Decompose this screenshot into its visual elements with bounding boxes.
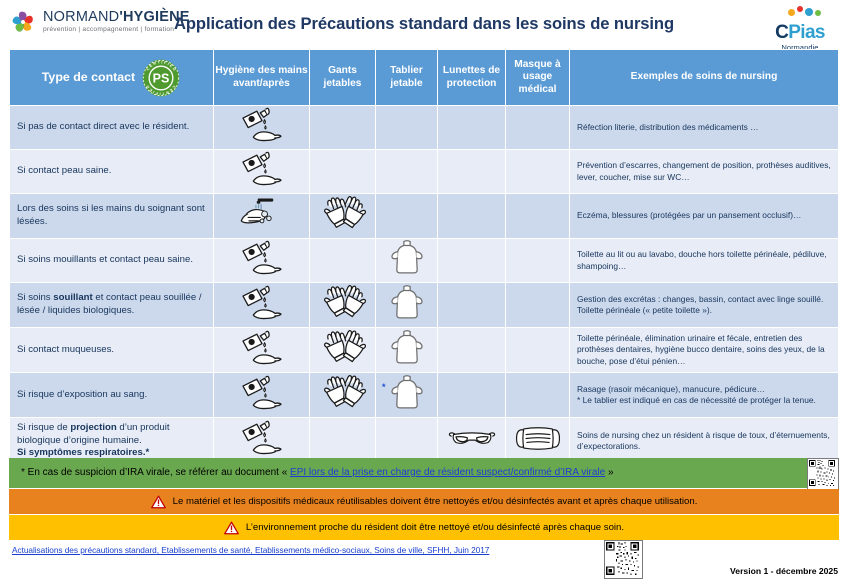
table-body: Si pas de contact direct avec le résiden… [10,106,839,465]
table-row: Si contact peau saine. Prévention d’esca… [10,150,839,194]
cell-gloves [310,283,376,328]
cell-apron [376,106,438,150]
row-examples: Réfection literie, distribution des médi… [570,106,839,150]
apron-icon [389,374,425,417]
row-contact-type-line: Si soins souillant et contact peau souil… [17,292,202,316]
ira-note-text: * En cas de suspicion d’IRA virale, se r… [9,467,839,479]
row-contact-type-line: Si contact peau saine. [17,165,111,176]
cell-apron [376,194,438,239]
ira-note-prefix: * En cas de suspicion d’IRA virale, se r… [21,467,287,478]
cell-goggles [438,328,506,373]
row-contact-type: Si soins souillant et contact peau souil… [10,283,214,328]
hand-sanitizer-icon [236,284,288,327]
table-row: Lors des soins si les mains du soignant … [10,194,839,239]
cell-goggles [438,239,506,283]
cell-goggles [438,373,506,418]
row-contact-type: Si contact muqueuses. [10,328,214,373]
equipment-note-bar: Le matériel et les dispositifs médicaux … [9,489,839,514]
hand-sanitizer-icon [236,150,288,193]
cell-gloves [310,150,376,194]
brand-tagline: prévention | accompagnement | formation [43,27,190,34]
apron-icon [389,239,425,282]
row-examples-line: Toilette au lit ou au lavabo, douche hor… [577,249,827,270]
equipment-note-text: Le matériel et les dispositifs médicaux … [173,496,698,507]
cell-mask [506,373,570,418]
row-examples-line: Réfection literie, distribution des médi… [577,122,759,132]
row-examples-line: Toilette périnéale (« petite toilette »)… [577,305,712,315]
col-header-mask: Masque à usage médical [506,50,570,106]
cell-mask [506,283,570,328]
row-examples-line: Eczéma, blessures (protégées par un pans… [577,210,801,220]
row-contact-type-line: Lors des soins si les mains du soignant … [17,203,205,227]
brand-name-part1: NORMAND [43,9,119,25]
gloves-icon [318,283,368,327]
row-examples: Eczéma, blessures (protégées par un pans… [570,194,839,239]
cell-apron [376,150,438,194]
table-header-row: Type de contact PS CERTIFIED [10,50,839,106]
row-examples-line: Toilette périnéale, élimination urinaire… [577,333,825,366]
col-header-type: Type de contact PS CERTIFIED [10,50,214,106]
warning-triangle-icon-2 [224,521,239,535]
table-row: Si risque d’exposition au sang. [10,373,839,418]
gloves-icon [318,194,368,238]
cell-gloves [310,194,376,239]
apron-icon [389,329,425,372]
environment-note-bar: L’environnement proche du résident doit … [9,515,839,540]
col-header-apron: Tablier jetable [376,50,438,106]
col-header-type-label: Type de contact [42,70,135,85]
hand-sanitizer-icon [236,329,288,372]
row-contact-type-line: Si pas de contact direct avec le résiden… [17,121,189,132]
cell-gloves [310,106,376,150]
cell-goggles [438,150,506,194]
row-contact-type: Si risque d’exposition au sang. [10,373,214,418]
svg-text:PS: PS [153,71,170,85]
apron-asterisk: * [382,382,386,392]
cpias-logo: CPias Normandie [760,6,840,44]
ira-note-bar: * En cas de suspicion d’IRA virale, se r… [9,458,839,488]
cell-hands [214,373,310,418]
cell-apron [376,283,438,328]
cell-mask [506,106,570,150]
cell-goggles [438,106,506,150]
environment-note-text: L’environnement proche du résident doit … [246,522,624,533]
cell-apron [376,328,438,373]
ps-certified-badge-icon: PS CERTIFIED CERTIFIED [141,58,181,98]
cell-gloves [310,328,376,373]
table-row: Si soins mouillants et contact peau sain… [10,239,839,283]
apron-icon [389,284,425,327]
hand-sanitizer-icon [236,239,288,282]
warning-triangle-icon [151,495,166,509]
table-row: Si contact muqueuses. [10,328,839,373]
col-header-examples: Exemples de soins de nursing [570,50,839,106]
hand-sanitizer-icon [236,374,288,417]
row-contact-type: Si contact peau saine. [10,150,214,194]
cell-gloves [310,239,376,283]
gloves-icon [318,328,368,372]
row-examples: Rasage (rasoir mécanique), manucure, péd… [570,373,839,418]
cell-mask [506,239,570,283]
gloves-icon [318,373,368,417]
col-header-hand-hygiene: Hygiène des mains avant/après [214,50,310,106]
row-examples-line: * Le tablier est indiqué en cas de néces… [577,395,816,405]
row-contact-type-line: Si symptômes respiratoires.* [17,447,149,458]
row-examples-line: Gestion des excrétas : changes, bassin, … [577,294,823,304]
cell-hands [214,106,310,150]
cell-goggles [438,194,506,239]
goggles-icon [448,427,496,455]
row-examples-line: Soins de nursing chez un résident à risq… [577,430,830,451]
cell-apron: * [376,373,438,418]
pinwheel-logo-icon [10,9,36,35]
row-contact-type: Si soins mouillants et contact peau sain… [10,239,214,283]
qr-code-source[interactable] [604,540,643,579]
cell-hands [214,194,310,239]
qr-code-ira[interactable] [807,458,839,490]
precautions-table: Type de contact PS CERTIFIED [9,49,839,465]
surgical-mask-icon [514,425,562,457]
source-reference-link[interactable]: Actualisations des précautions standard,… [12,545,489,555]
version-label: Version 1 - décembre 2025 [730,566,838,576]
row-examples: Toilette périnéale, élimination urinaire… [570,328,839,373]
row-contact-type-line: Si soins mouillants et contact peau sain… [17,254,193,265]
page-header: NORMAND'HYGIÈNE prévention | accompagnem… [0,0,848,48]
row-examples-line: Prévention d’escarres, changement de pos… [577,160,831,181]
cell-hands [214,328,310,373]
hand-sanitizer-icon [236,419,288,462]
cpias-c: C [775,22,788,43]
ira-note-suffix: » [608,467,614,478]
poster-page: NORMAND'HYGIÈNE prévention | accompagnem… [0,0,848,587]
col-header-goggles: Lunettes de protection [438,50,506,106]
cell-apron [376,239,438,283]
ira-document-link[interactable]: EPI lors de la prise en charge de réside… [290,467,605,478]
handwash-tap-icon [236,195,288,238]
row-contact-type: Lors des soins si les mains du soignant … [10,194,214,239]
hand-sanitizer-icon [236,106,288,149]
cell-hands [214,239,310,283]
cpias-wordmark: CPias [760,23,840,42]
row-examples: Prévention d’escarres, changement de pos… [570,150,839,194]
row-contact-type: Si pas de contact direct avec le résiden… [10,106,214,150]
row-contact-type-line: Si contact muqueuses. [17,344,114,355]
cpias-pias: Pias [788,22,825,43]
table-row: Si pas de contact direct avec le résiden… [10,106,839,150]
cell-mask [506,150,570,194]
row-examples: Toilette au lit ou au lavabo, douche hor… [570,239,839,283]
row-examples-line: Rasage (rasoir mécanique), manucure, péd… [577,384,765,394]
col-header-gloves: Gants jetables [310,50,376,106]
brand-name-part2: 'HYGIÈNE [119,9,189,25]
brand-name: NORMAND'HYGIÈNE [43,10,190,25]
row-examples: Gestion des excrétas : changes, bassin, … [570,283,839,328]
cell-hands [214,283,310,328]
row-contact-type-line: Si risque de projection d’un produit bio… [17,422,170,446]
table-row: Si soins souillant et contact peau souil… [10,283,839,328]
cell-mask [506,194,570,239]
row-contact-type-line: Si risque d’exposition au sang. [17,389,147,400]
cell-gloves [310,373,376,418]
cell-hands [214,150,310,194]
cell-mask [506,328,570,373]
cell-goggles [438,283,506,328]
normand-hygiene-logo: NORMAND'HYGIÈNE prévention | accompagnem… [10,9,190,35]
